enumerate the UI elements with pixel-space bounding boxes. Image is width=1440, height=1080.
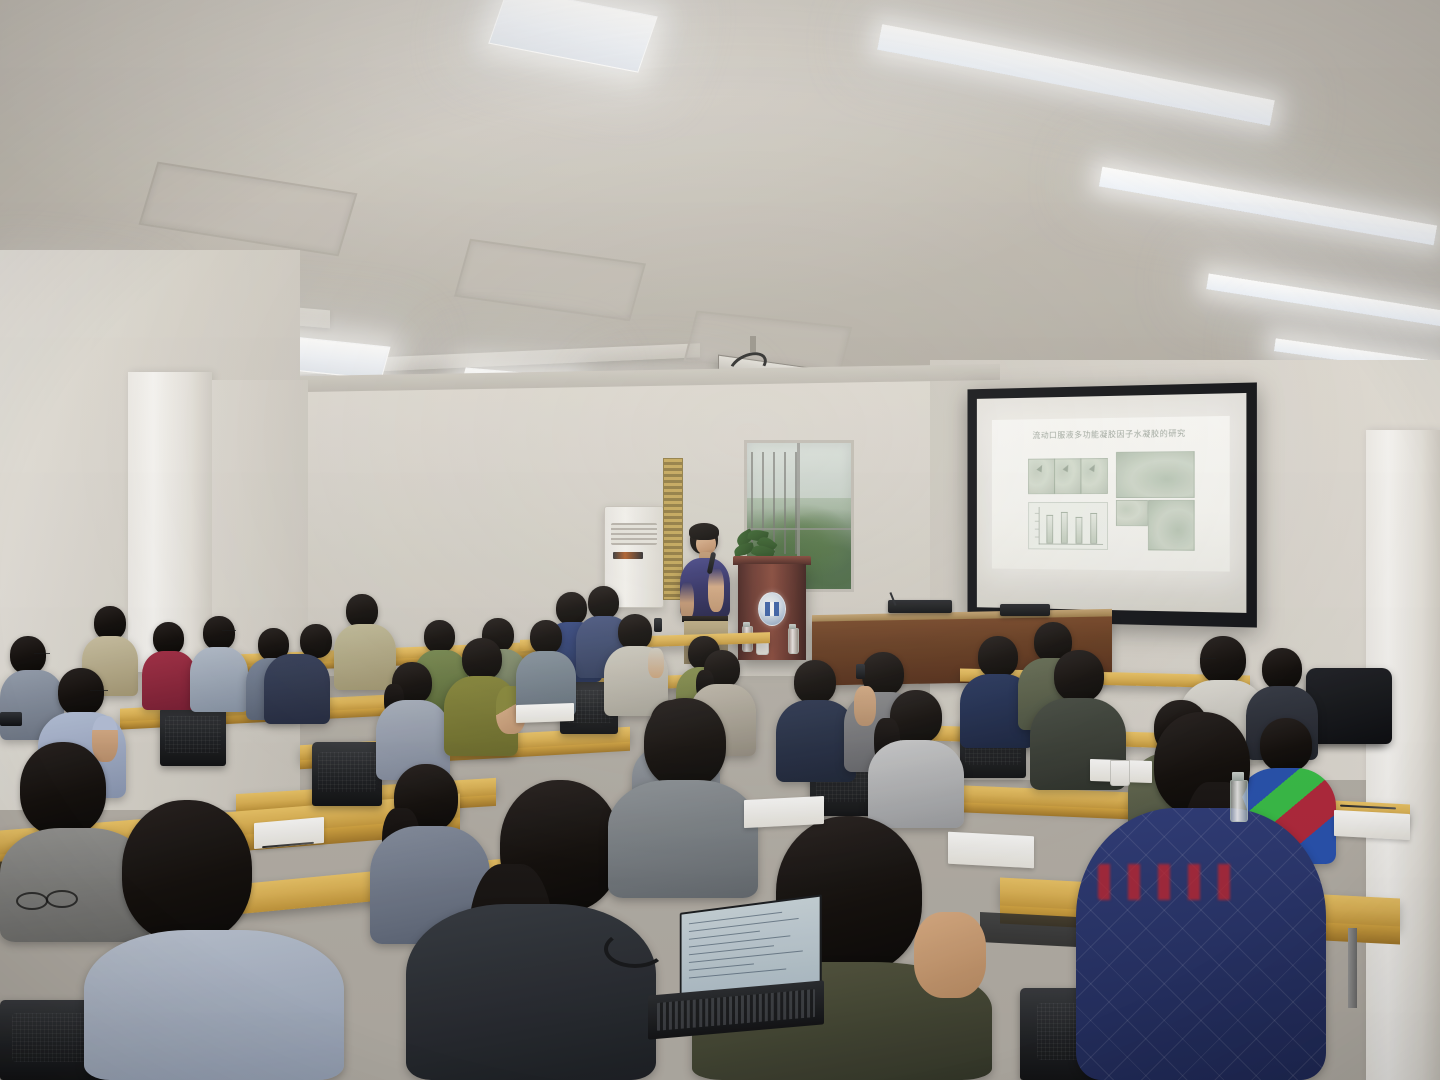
glasses-icon bbox=[90, 690, 108, 691]
mobile-phone[interactable] bbox=[856, 664, 865, 679]
jacket-red-lettering bbox=[1098, 864, 1248, 900]
attendee-head bbox=[94, 606, 126, 640]
attendee-head bbox=[300, 624, 332, 658]
attendee-head bbox=[530, 620, 562, 654]
slide-title: 流动口服液多功能凝胶因子水凝胶的研究 bbox=[992, 427, 1230, 441]
projected-slide: 流动口服液多功能凝胶因子水凝胶的研究 bbox=[992, 416, 1230, 572]
attendee bbox=[190, 616, 248, 712]
attendee-hand bbox=[914, 912, 986, 998]
open-laptop[interactable] bbox=[636, 904, 836, 1034]
projection-screen-surface: 流动口服液多功能凝胶因子水凝胶的研究 bbox=[977, 393, 1247, 613]
attendee bbox=[264, 624, 326, 724]
attendee-body bbox=[190, 647, 248, 712]
chart-y-axis bbox=[1039, 507, 1040, 544]
presenter-arm-left bbox=[680, 582, 694, 620]
glasses-icon bbox=[34, 653, 50, 654]
attendee-head bbox=[794, 660, 836, 704]
micrograph-panel-a bbox=[1028, 458, 1055, 494]
attendee bbox=[444, 638, 518, 756]
chair-mesh bbox=[318, 752, 377, 792]
micrograph-panel-d bbox=[1116, 451, 1195, 498]
laptop-keyboard-base[interactable] bbox=[648, 980, 824, 1039]
eyeglasses-lens-right bbox=[46, 890, 78, 908]
laptop-screen-text-line bbox=[689, 963, 754, 970]
micrograph-panel-f bbox=[1148, 500, 1195, 551]
attendee-body bbox=[406, 904, 656, 1080]
attendee bbox=[376, 662, 450, 780]
micrograph-panel-c bbox=[1080, 458, 1108, 494]
university-crest-icon bbox=[758, 592, 786, 626]
laptop-screen-text-line bbox=[689, 931, 760, 940]
mobile-phone[interactable] bbox=[654, 618, 662, 632]
structural-pillar-right bbox=[1366, 430, 1440, 1080]
attendee-head bbox=[462, 638, 502, 680]
attendee-body bbox=[868, 740, 964, 828]
notebook[interactable] bbox=[516, 703, 574, 723]
attendee-body-quilted-jacket bbox=[1076, 808, 1326, 1080]
projection-screen-frame: 流动口服液多功能凝胶因子水凝胶的研究 bbox=[967, 382, 1256, 627]
attendee-head bbox=[1262, 648, 1302, 690]
chart-bar bbox=[1046, 515, 1053, 544]
laptop-screen-text-line bbox=[689, 918, 799, 932]
presenter-arm-right bbox=[708, 568, 724, 612]
mobile-phone[interactable] bbox=[0, 712, 22, 726]
notebook[interactable] bbox=[1334, 810, 1410, 840]
attendee bbox=[516, 620, 576, 716]
chart-tick bbox=[1035, 513, 1039, 514]
laptop-keyboard[interactable] bbox=[657, 989, 815, 1031]
presiding-table-laptop[interactable] bbox=[888, 600, 952, 613]
attendee-head bbox=[122, 800, 252, 942]
eyeglasses-on-desk[interactable] bbox=[16, 888, 84, 908]
bottle-cap bbox=[1232, 772, 1244, 781]
presiding-table-av-controller[interactable] bbox=[1000, 604, 1050, 616]
presenter-hair bbox=[689, 523, 719, 540]
attendee-head bbox=[346, 594, 378, 628]
projector-mount-rod bbox=[750, 336, 756, 352]
water-bottle[interactable] bbox=[788, 628, 799, 654]
notebook[interactable] bbox=[948, 832, 1034, 869]
notebook[interactable] bbox=[744, 796, 824, 828]
chart-bar bbox=[1061, 512, 1068, 544]
annotation-arrow-a bbox=[1036, 464, 1044, 473]
attendee-body bbox=[84, 930, 344, 1080]
lecture-room-photo: 流动口服液多功能凝胶因子水凝胶的研究 bbox=[0, 0, 1440, 1080]
chart-tick bbox=[1035, 529, 1039, 530]
laptop-screen-text-line bbox=[689, 968, 786, 978]
water-bottle[interactable] bbox=[1230, 780, 1248, 822]
paper-cup[interactable] bbox=[1110, 760, 1130, 786]
laptop-cable bbox=[604, 930, 666, 968]
eyeglasses-lens-left bbox=[16, 892, 48, 910]
chart-tick bbox=[1035, 537, 1039, 538]
glasses-icon bbox=[1200, 658, 1216, 659]
bar-chart-panel bbox=[1028, 502, 1108, 550]
chair[interactable] bbox=[160, 706, 226, 766]
chart-tick bbox=[1035, 521, 1039, 522]
chart-bar bbox=[1076, 517, 1083, 544]
attendee-head bbox=[1054, 650, 1104, 702]
attendee-head bbox=[978, 636, 1018, 678]
attendee-head bbox=[644, 698, 726, 788]
micrograph-panel-b bbox=[1054, 458, 1081, 494]
attendee-head bbox=[58, 668, 104, 716]
attendee-head bbox=[203, 616, 235, 650]
attendee-body bbox=[264, 654, 330, 724]
chair-mesh bbox=[165, 716, 220, 753]
attendee bbox=[142, 622, 196, 710]
bottle-cap bbox=[789, 624, 796, 629]
chart-bar bbox=[1090, 513, 1097, 544]
air-conditioner-grille bbox=[611, 523, 657, 545]
attendee bbox=[868, 690, 964, 828]
attendee-body bbox=[142, 651, 196, 710]
glasses-icon bbox=[222, 630, 236, 631]
attendee-arm bbox=[648, 648, 664, 678]
bottle-cap bbox=[743, 622, 750, 627]
annotation-arrow-b bbox=[1063, 463, 1071, 472]
attendee-head bbox=[1200, 636, 1246, 684]
micrograph-panel-e bbox=[1116, 500, 1148, 526]
crest-inner bbox=[765, 602, 780, 616]
air-conditioner-display[interactable] bbox=[613, 552, 643, 559]
annotation-arrow-c bbox=[1089, 463, 1097, 472]
attendee-head bbox=[618, 614, 652, 650]
desk-leg bbox=[1348, 928, 1357, 1008]
